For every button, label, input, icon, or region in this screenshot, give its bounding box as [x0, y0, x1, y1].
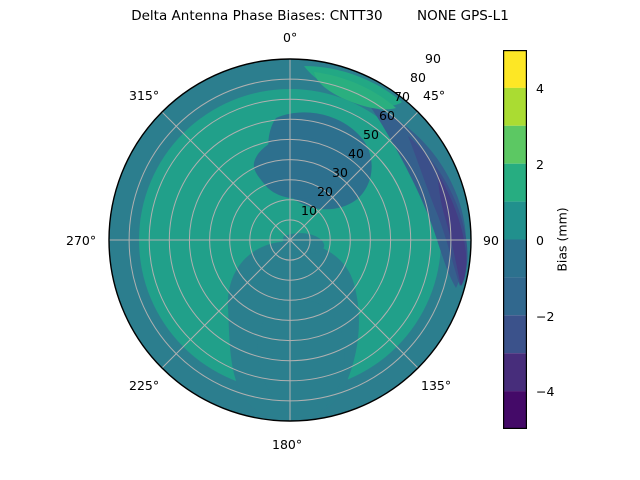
radial-tick-20: 20: [317, 184, 333, 199]
radial-tick-10: 10: [301, 203, 317, 218]
theta-label-225: 225°: [129, 378, 159, 393]
radial-tick-90: 90: [425, 51, 441, 66]
theta-label-0: 0°: [283, 30, 297, 45]
polar-plot-svg: [108, 58, 472, 422]
cb-band-m1-0: [503, 240, 527, 278]
theta-label-135: 135°: [421, 378, 451, 393]
colorbar-tick-label-0: 0: [536, 233, 544, 248]
cb-band-4-5: [503, 50, 527, 88]
polar-axes: 10 20 30 40 50 60 70 80 90: [108, 58, 472, 422]
cb-band-3-4: [503, 88, 527, 126]
figure-canvas: Delta Antenna Phase Biases: CNTT30 NONE …: [0, 0, 640, 480]
cb-band-m4-m3: [503, 353, 527, 391]
theta-label-90: 90: [483, 233, 499, 248]
theta-label-315: 315°: [129, 88, 159, 103]
radial-tick-80: 80: [410, 70, 426, 85]
cb-band-0-1: [503, 202, 527, 240]
theta-label-45: 45°: [423, 88, 445, 103]
radial-tick-30: 30: [332, 165, 348, 180]
cb-band-m2-m1: [503, 277, 527, 315]
colorbar-axis-label: Bias (mm): [552, 50, 572, 429]
radial-tick-50: 50: [363, 127, 379, 142]
theta-label-180: 180°: [272, 437, 302, 452]
cb-band-m5-m4: [503, 391, 527, 429]
cb-band-2-3: [503, 126, 527, 164]
figure-title: Delta Antenna Phase Biases: CNTT30 NONE …: [0, 8, 640, 24]
colorbar: [503, 50, 527, 429]
theta-label-270: 270°: [66, 233, 96, 248]
colorbar-axis-label-text: Bias (mm): [555, 207, 570, 271]
radial-tick-70: 70: [394, 89, 410, 104]
angular-gridlines: [109, 59, 471, 421]
colorbar-svg: [503, 50, 527, 429]
colorbar-tick-label-4: 4: [536, 81, 544, 96]
cb-band-m3-m2: [503, 315, 527, 353]
radial-tick-60: 60: [379, 108, 395, 123]
colorbar-tick-label-2: 2: [536, 157, 544, 172]
colorbar-bands: [503, 50, 527, 429]
radial-tick-40: 40: [348, 146, 364, 161]
cb-band-1-2: [503, 164, 527, 202]
